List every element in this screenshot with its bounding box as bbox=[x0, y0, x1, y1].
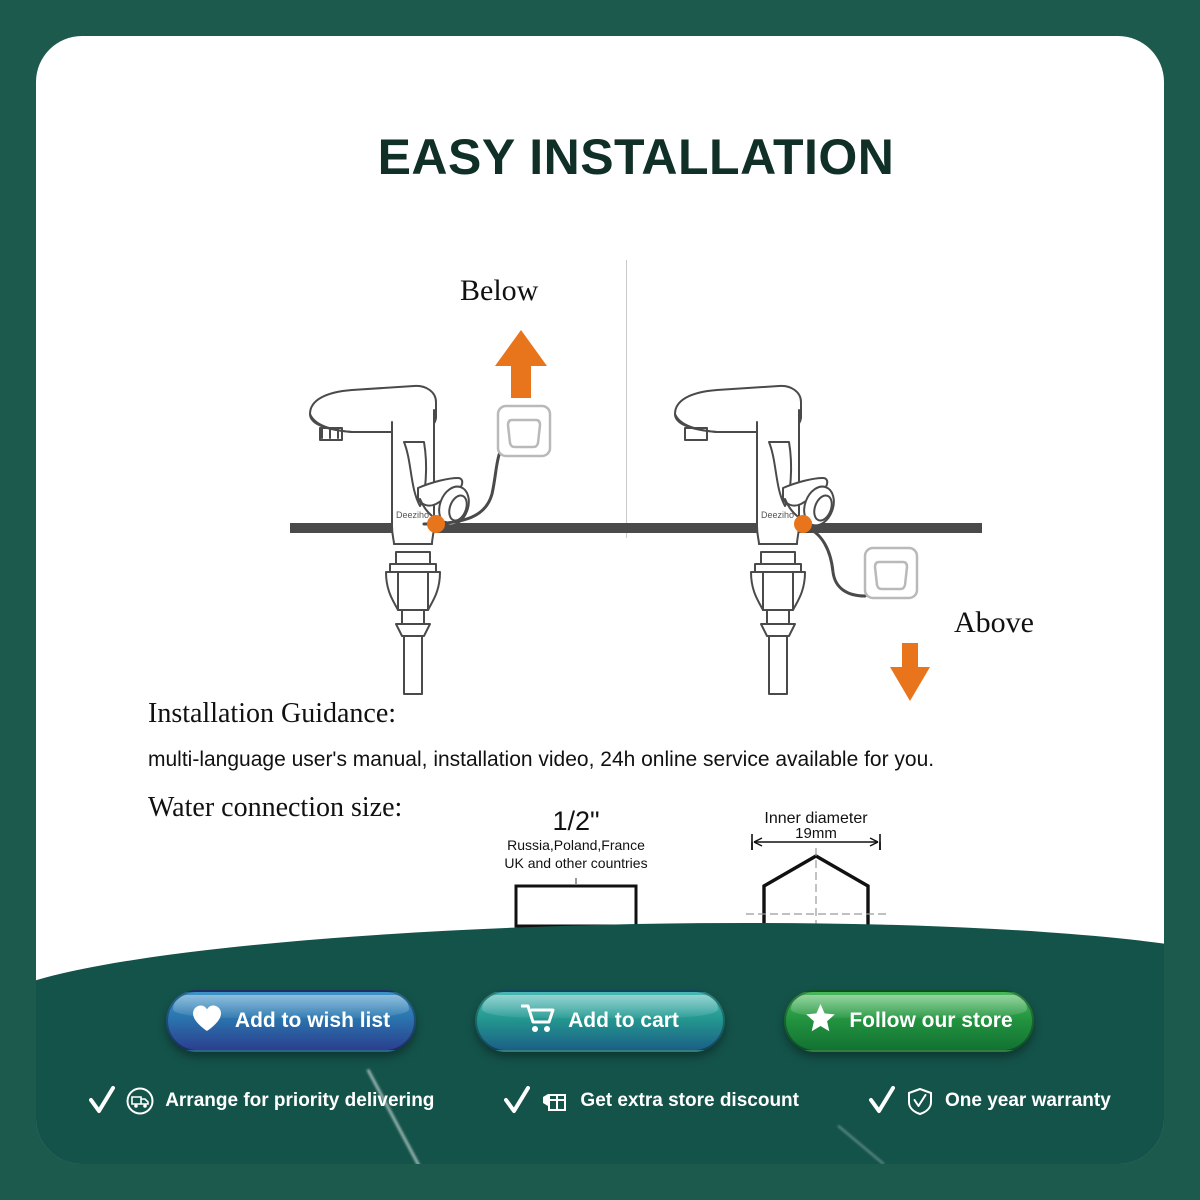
label-below: Below bbox=[460, 274, 538, 308]
cable-connection-dot bbox=[427, 515, 445, 533]
check-icon bbox=[89, 1086, 115, 1116]
check-icon bbox=[869, 1086, 895, 1116]
faucet-assembly-above: Deeziho bbox=[651, 366, 971, 696]
shield-check-icon bbox=[906, 1087, 934, 1115]
feature-strip: Arrange for priority delivering Get extr… bbox=[0, 1086, 1200, 1116]
brand-mark: Deeziho bbox=[396, 510, 429, 520]
gift-store-icon bbox=[541, 1087, 569, 1115]
page-title: EASY INSTALLATION bbox=[36, 128, 1164, 186]
star-icon bbox=[805, 1003, 836, 1039]
cable-connection-dot bbox=[794, 515, 812, 533]
add-to-wish-list-button[interactable]: Add to wish list bbox=[166, 990, 416, 1052]
thread-countries-line1: Russia,Poland,France bbox=[476, 837, 676, 855]
shopping-cart-icon bbox=[521, 1003, 555, 1039]
add-to-cart-button[interactable]: Add to cart bbox=[475, 990, 725, 1052]
check-icon bbox=[504, 1086, 530, 1116]
follow-our-store-label: Follow our store bbox=[849, 1009, 1012, 1033]
feature-priority-delivering: Arrange for priority delivering bbox=[89, 1086, 434, 1116]
guidance-body: multi-language user's manual, installati… bbox=[148, 748, 1128, 772]
feature-store-discount: Get extra store discount bbox=[504, 1086, 799, 1116]
thread-size-label: 1/2" bbox=[476, 806, 676, 837]
inner-diameter-label: Inner diameter bbox=[716, 810, 916, 828]
follow-our-store-button[interactable]: Follow our store bbox=[784, 990, 1034, 1052]
faucet-assembly-below: Deeziho bbox=[286, 366, 586, 696]
feature-one-year-warranty-label: One year warranty bbox=[945, 1090, 1111, 1112]
delivery-truck-icon bbox=[126, 1087, 154, 1115]
thread-countries-line2: UK and other countries bbox=[476, 855, 676, 873]
add-to-cart-label: Add to cart bbox=[568, 1009, 679, 1033]
svg-text:Deeziho: Deeziho bbox=[761, 510, 794, 520]
heart-icon bbox=[192, 1005, 222, 1038]
diagram-divider bbox=[626, 260, 627, 538]
cta-button-row: Add to wish list Add to cart Follow our … bbox=[0, 990, 1200, 1052]
add-to-wish-list-label: Add to wish list bbox=[235, 1009, 390, 1033]
feature-priority-delivering-label: Arrange for priority delivering bbox=[165, 1090, 434, 1112]
feature-store-discount-label: Get extra store discount bbox=[580, 1090, 799, 1112]
guidance-heading: Installation Guidance: bbox=[148, 698, 1128, 730]
installation-diagram: Below Above bbox=[36, 216, 1164, 716]
inner-diameter-value: 19mm bbox=[795, 828, 837, 842]
feature-one-year-warranty: One year warranty bbox=[869, 1086, 1111, 1116]
